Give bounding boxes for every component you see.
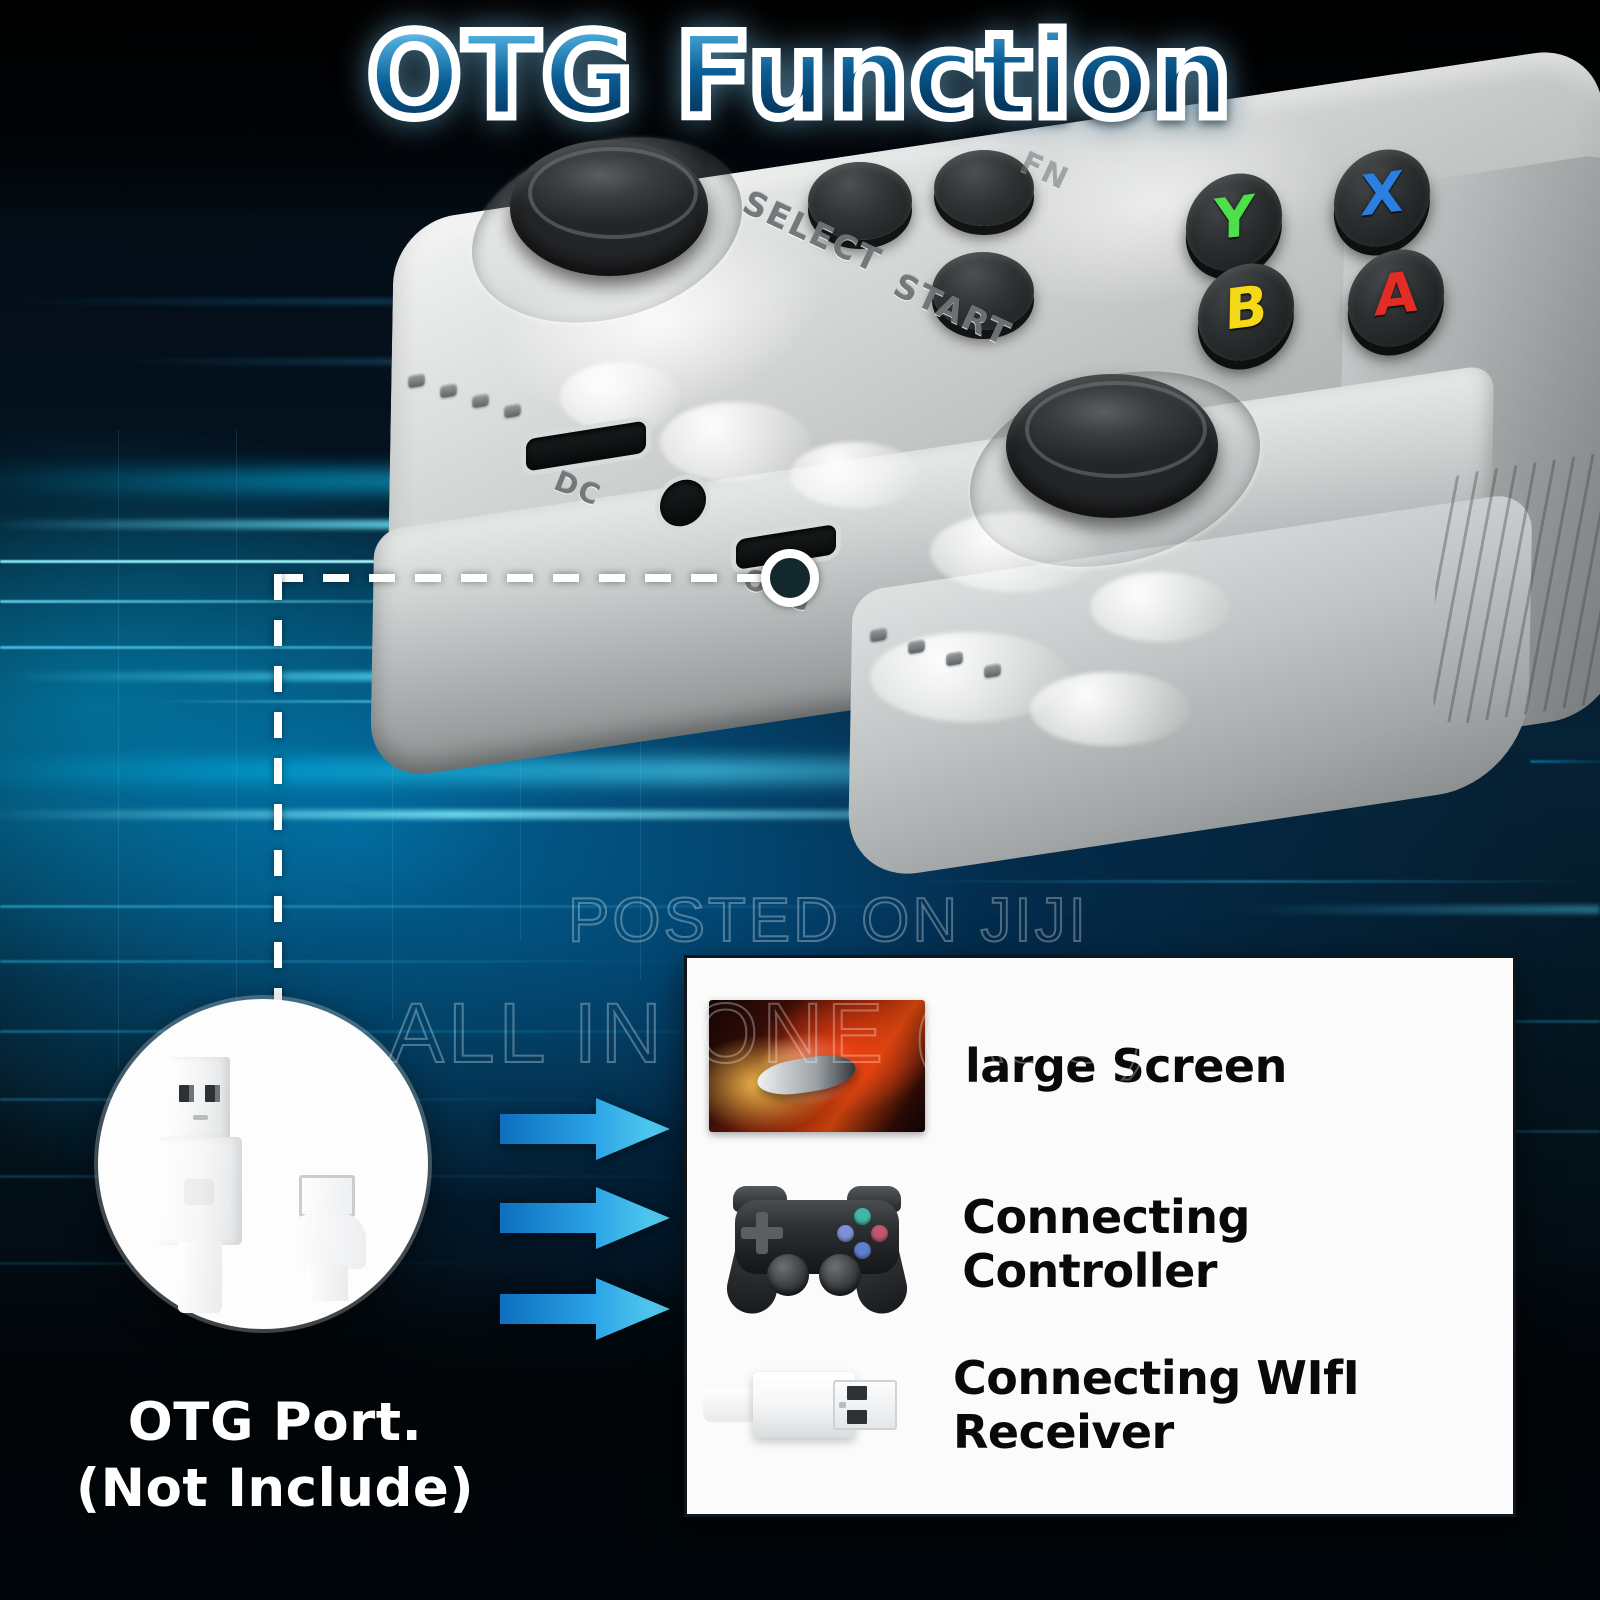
usb-wifi-receiver-thumbnail (697, 1350, 913, 1460)
feature-label-wifi-receiver-line2: Receiver (953, 1405, 1359, 1459)
button-a-label: A (1374, 264, 1418, 325)
button-y-label: Y (1213, 188, 1255, 249)
flow-arrow-icon (500, 1098, 670, 1160)
fn-button[interactable] (934, 150, 1034, 226)
feature-list-panel: large Screen Connecting Controller (684, 955, 1516, 1517)
usb-a-connector-icon (158, 1057, 242, 1309)
feature-label-large-screen: large Screen (965, 1039, 1287, 1093)
product-marketing-image: OTG Function SELECT (0, 0, 1600, 1600)
console-translucent-blob (790, 442, 920, 508)
otg-port-caption: OTG Port. (Not Include) (40, 1390, 510, 1523)
callout-dashed-line-horizontal (277, 574, 789, 582)
console-translucent-blob (660, 402, 810, 482)
large-screen-thumbnail (709, 1000, 925, 1132)
console-translucent-blob (1030, 672, 1190, 746)
feature-label-wifi-receiver-line1: Connecting WIfI (953, 1351, 1359, 1405)
feature-label-wifi-receiver: Connecting WIfI Receiver (953, 1351, 1359, 1460)
callout-dashed-line-vertical (274, 574, 282, 1004)
flow-arrow-icon (500, 1187, 670, 1249)
headline-container: OTG Function (0, 18, 1600, 136)
left-analog-stick[interactable] (510, 140, 708, 276)
console-illustration: SELECT START FN Y X B A DC OTG (330, 112, 1600, 872)
right-analog-stick[interactable] (1006, 374, 1218, 518)
otg-port-caption-line2: (Not Include) (40, 1456, 510, 1522)
page-title: OTG Function (367, 18, 1233, 136)
button-b-label: B (1224, 278, 1268, 339)
console-grip-texture (1433, 446, 1600, 728)
feature-row-connecting-controller: Connecting Controller (709, 1170, 1513, 1318)
feature-label-connecting-controller: Connecting Controller (962, 1190, 1513, 1299)
flow-arrow-icon (500, 1278, 670, 1340)
console-translucent-blob (1090, 572, 1230, 642)
gamepad-thumbnail (709, 1170, 922, 1318)
feature-row-wifi-receiver: Connecting WIfI Receiver (697, 1350, 1359, 1460)
button-x-label: X (1360, 164, 1404, 225)
otg-port-marker-icon (761, 549, 819, 607)
otg-port-caption-line1: OTG Port. (40, 1390, 510, 1456)
console-translucent-blob (560, 362, 680, 432)
otg-cable-badge (98, 999, 428, 1329)
feature-row-large-screen: large Screen (709, 1000, 1287, 1132)
usb-c-connector-icon (288, 1175, 366, 1297)
